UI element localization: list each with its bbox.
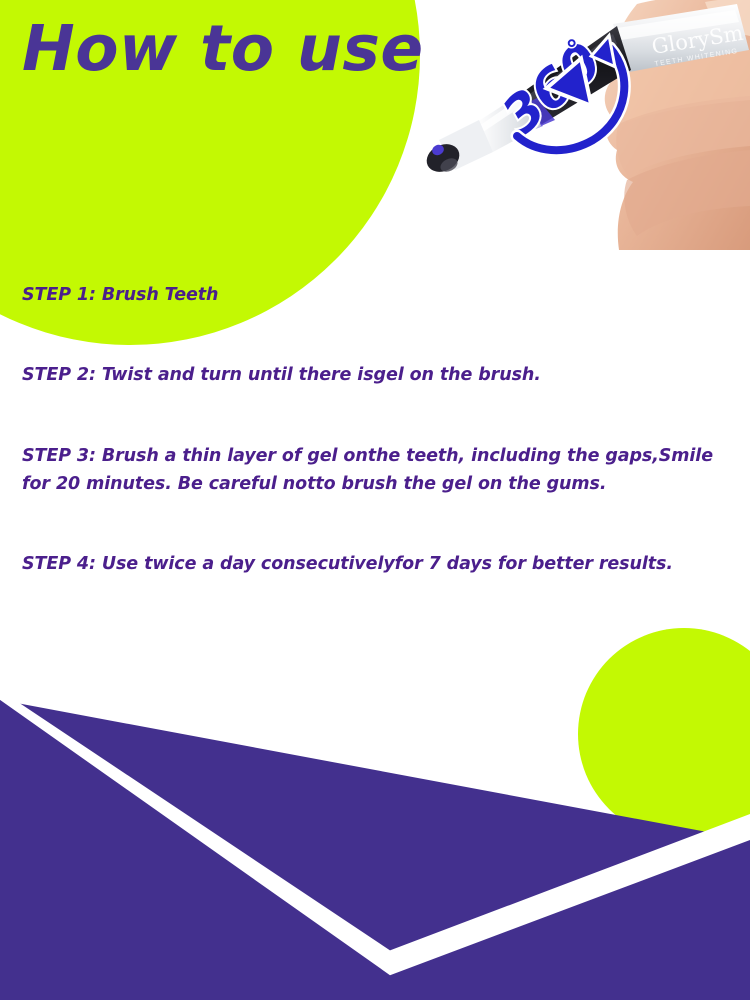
step-item-2: STEP 2: Twist and turn until there isgel… [22,361,728,389]
pen-brush-tip [422,120,493,177]
product-photo-whitening-pen: GlorySmile TEETH WHITENING [405,0,750,250]
page-title: How to use [22,12,424,85]
green-circle-bottom-right [578,628,750,840]
step-item-1: STEP 1: Brush Teeth [22,281,728,309]
step-item-3: STEP 3: Brush a thin layer of gel onthe … [22,442,728,499]
how-to-use-poster: GlorySmile TEETH WHITENING [0,0,750,1000]
instruction-steps-list: STEP 1: Brush Teeth STEP 2: Twist and tu… [22,281,728,579]
step-item-4: STEP 4: Use twice a day consecutivelyfor… [22,550,728,578]
